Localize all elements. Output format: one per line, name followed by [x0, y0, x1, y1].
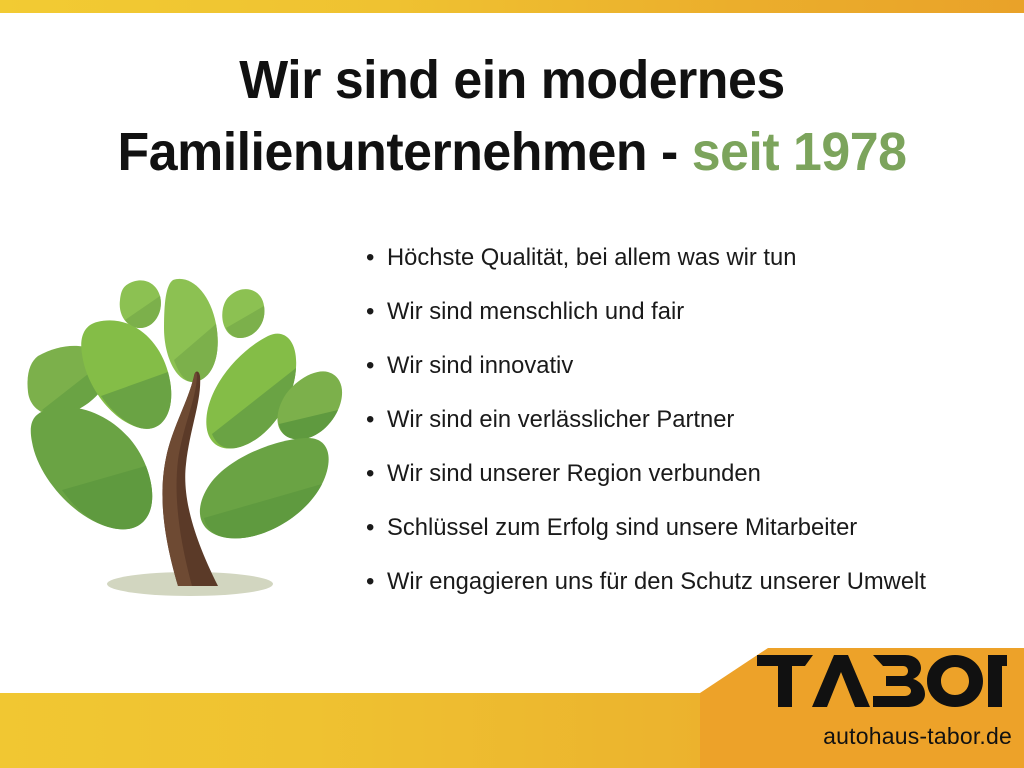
list-item-label: Wir sind innovativ — [387, 351, 573, 381]
bullet-dot-icon: • — [366, 243, 387, 273]
bullet-dot-icon: • — [366, 459, 387, 489]
top-accent-bar — [0, 0, 1024, 13]
logo-tagline: autohaus-tabor.de — [694, 722, 1012, 750]
list-item-label: Wir engagieren uns für den Schutz unsere… — [387, 567, 926, 597]
headline-line-2: Familienunternehmen - seit 1978 — [20, 116, 1003, 188]
list-item: • Höchste Qualität, bei allem was wir tu… — [366, 243, 1016, 297]
list-item: • Schlüssel zum Erfolg sind unsere Mitar… — [366, 513, 1016, 567]
headline-line-2-plain: Familienunternehmen - — [118, 122, 692, 182]
list-item: • Wir sind menschlich und fair — [366, 297, 1016, 351]
headline-line-1: Wir sind ein modernes — [20, 44, 1003, 116]
bullet-dot-icon: • — [366, 297, 387, 327]
tabor-logo — [757, 655, 1007, 707]
list-item: • Wir engagieren uns für den Schutz unse… — [366, 567, 1016, 621]
list-item: • Wir sind ein verlässlicher Partner — [366, 405, 1016, 459]
list-item-label: Wir sind unserer Region verbunden — [387, 459, 761, 489]
page-title: Wir sind ein modernes Familienunternehme… — [20, 44, 1003, 188]
tree-illustration — [22, 252, 352, 604]
bullet-dot-icon: • — [366, 513, 387, 543]
list-item-label: Wir sind ein verlässlicher Partner — [387, 405, 734, 435]
logo-letter-a — [812, 655, 870, 707]
logo-letter-o — [927, 655, 983, 707]
value-bullet-list: • Höchste Qualität, bei allem was wir tu… — [366, 243, 1016, 621]
bullet-dot-icon: • — [366, 405, 387, 435]
logo-letter-b — [873, 655, 925, 707]
slide-canvas: Wir sind ein modernes Familienunternehme… — [0, 0, 1024, 768]
list-item-label: Höchste Qualität, bei allem was wir tun — [387, 243, 796, 273]
bullet-dot-icon: • — [366, 567, 387, 597]
list-item-label: Schlüssel zum Erfolg sind unsere Mitarbe… — [387, 513, 857, 543]
bullet-dot-icon: • — [366, 351, 387, 381]
logo-letter-t — [757, 655, 813, 707]
logo-letter-r — [988, 655, 1007, 707]
list-item: • Wir sind unserer Region verbunden — [366, 459, 1016, 513]
list-item-label: Wir sind menschlich und fair — [387, 297, 684, 327]
list-item: • Wir sind innovativ — [366, 351, 1016, 405]
headline-accent-year: seit 1978 — [692, 122, 907, 182]
